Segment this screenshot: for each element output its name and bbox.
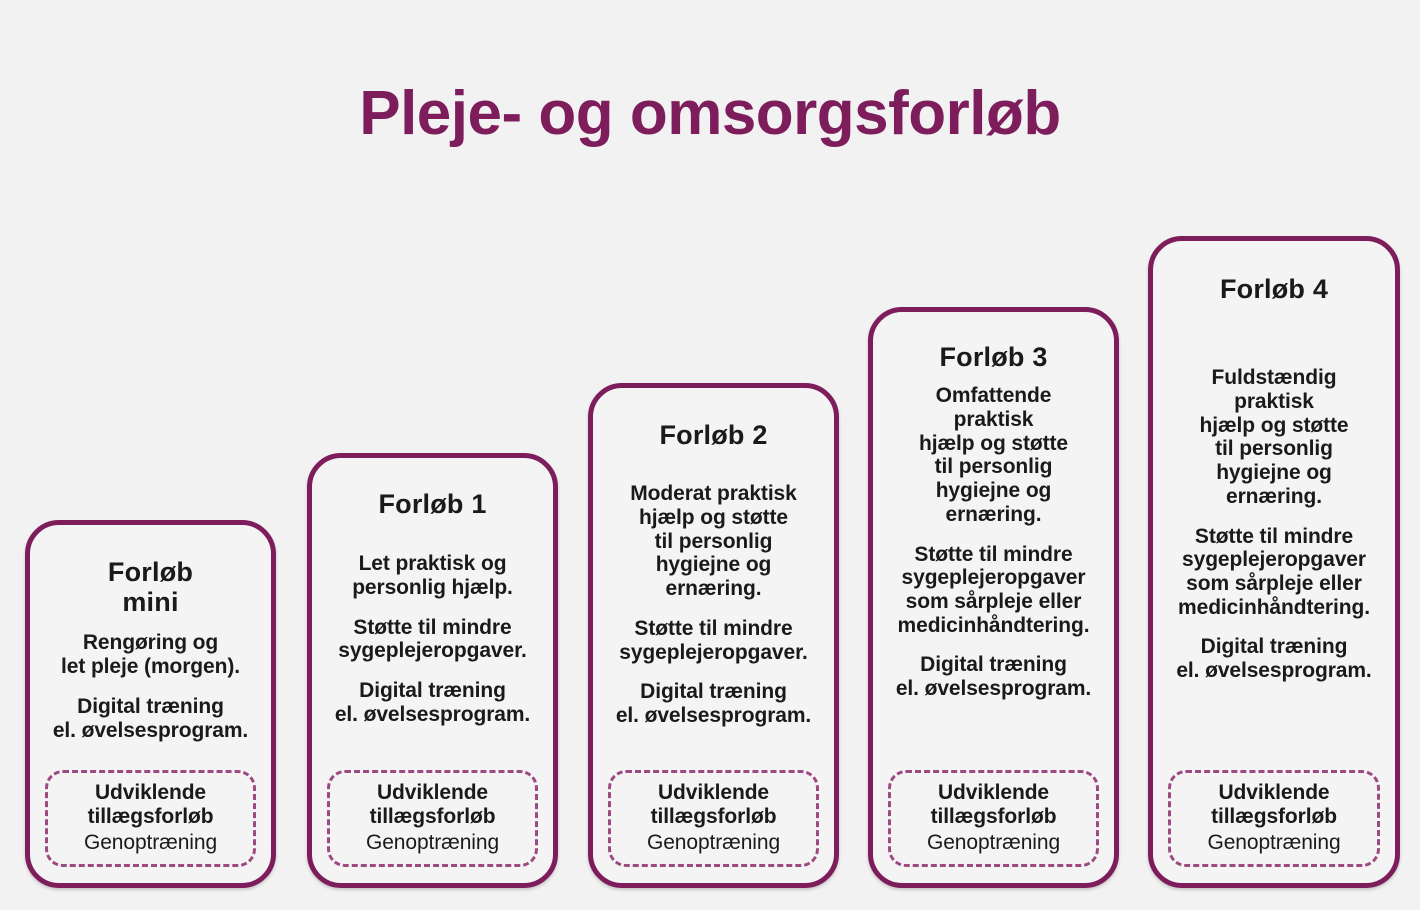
card-paragraph: Omfattendepraktiskhjælp og støttetil per…	[883, 384, 1104, 526]
forloeb-card[interactable]: Forløb 3Omfattendepraktiskhjælp og støtt…	[868, 307, 1119, 888]
card-title-line: Forløb 3	[883, 342, 1104, 372]
supplementary-program-box[interactable]: UdviklendetillægsforløbGenoptræning	[888, 770, 1099, 867]
slide-canvas: Pleje- og omsorgsforløb ForløbminiRengør…	[0, 0, 1420, 910]
supplementary-program-box[interactable]: UdviklendetillægsforløbGenoptræning	[327, 770, 538, 867]
supplementary-program-title: Udviklendetillægsforløb	[615, 781, 812, 829]
card-paragraph: Let praktisk ogpersonlig hjælp.	[322, 552, 543, 599]
card-body: Rengøring oglet pleje (morgen).Digital t…	[40, 631, 261, 742]
supplementary-program-box[interactable]: UdviklendetillægsforløbGenoptræning	[608, 770, 819, 867]
card-paragraph: Digital træningel. øvelsesprogram.	[40, 695, 261, 742]
supplementary-program-title: Udviklendetillægsforløb	[52, 781, 249, 829]
card-paragraph: Digital træningel. øvelsesprogram.	[1163, 635, 1385, 682]
forloeb-card[interactable]: Forløb 2Moderat praktiskhjælp og støttet…	[588, 383, 839, 888]
card-title: Forløb 2	[603, 420, 824, 450]
supplementary-program-subtitle: Genoptræning	[895, 830, 1092, 855]
card-paragraph: Digital træningel. øvelsesprogram.	[883, 653, 1104, 700]
card-title: Forløb 3	[883, 342, 1104, 372]
card-paragraph: Digital træningel. øvelsesprogram.	[603, 680, 824, 727]
card-title-line: Forløb	[40, 557, 261, 587]
card-title-line: Forløb 1	[322, 489, 543, 519]
card-paragraph: Støtte til mindresygeplejeropgaver.	[603, 617, 824, 664]
supplementary-program-subtitle: Genoptræning	[334, 830, 531, 855]
supplementary-program-subtitle: Genoptræning	[615, 830, 812, 855]
forloeb-card[interactable]: Forløb 1Let praktisk ogpersonlig hjælp.S…	[307, 453, 558, 888]
supplementary-program-box[interactable]: UdviklendetillægsforløbGenoptræning	[45, 770, 256, 867]
card-paragraph: Støtte til mindresygeplejeropgaversom så…	[883, 543, 1104, 638]
card-paragraph: Digital træningel. øvelsesprogram.	[322, 679, 543, 726]
supplementary-program-subtitle: Genoptræning	[1175, 830, 1373, 855]
card-body: Let praktisk ogpersonlig hjælp.Støtte ti…	[322, 552, 543, 726]
supplementary-program-title: Udviklendetillægsforløb	[895, 781, 1092, 829]
card-title-line: mini	[40, 587, 261, 617]
supplementary-program-title: Udviklendetillægsforløb	[334, 781, 531, 829]
card-body: Omfattendepraktiskhjælp og støttetil per…	[883, 384, 1104, 701]
card-title-line: Forløb 4	[1163, 274, 1385, 304]
forloeb-card[interactable]: ForløbminiRengøring oglet pleje (morgen)…	[25, 520, 276, 888]
card-title-line: Forløb 2	[603, 420, 824, 450]
card-title: Forløbmini	[40, 557, 261, 617]
card-paragraph: Fuldstændigpraktiskhjælp og støttetil pe…	[1163, 366, 1385, 508]
card-paragraph: Støtte til mindresygeplejeropgaver.	[322, 616, 543, 663]
card-body: Fuldstændigpraktiskhjælp og støttetil pe…	[1163, 366, 1385, 683]
supplementary-program-subtitle: Genoptræning	[52, 830, 249, 855]
card-title: Forløb 4	[1163, 274, 1385, 304]
supplementary-program-box[interactable]: UdviklendetillægsforløbGenoptræning	[1168, 770, 1380, 867]
card-paragraph: Rengøring oglet pleje (morgen).	[40, 631, 261, 678]
card-body: Moderat praktiskhjælp og støttetil perso…	[603, 482, 824, 727]
card-title: Forløb 1	[322, 489, 543, 519]
card-paragraph: Moderat praktiskhjælp og støttetil perso…	[603, 482, 824, 601]
card-paragraph: Støtte til mindresygeplejeropgaversom så…	[1163, 525, 1385, 620]
page-title: Pleje- og omsorgsforløb	[0, 78, 1420, 149]
supplementary-program-title: Udviklendetillægsforløb	[1175, 781, 1373, 829]
forloeb-card[interactable]: Forløb 4Fuldstændigpraktiskhjælp og støt…	[1148, 236, 1400, 888]
